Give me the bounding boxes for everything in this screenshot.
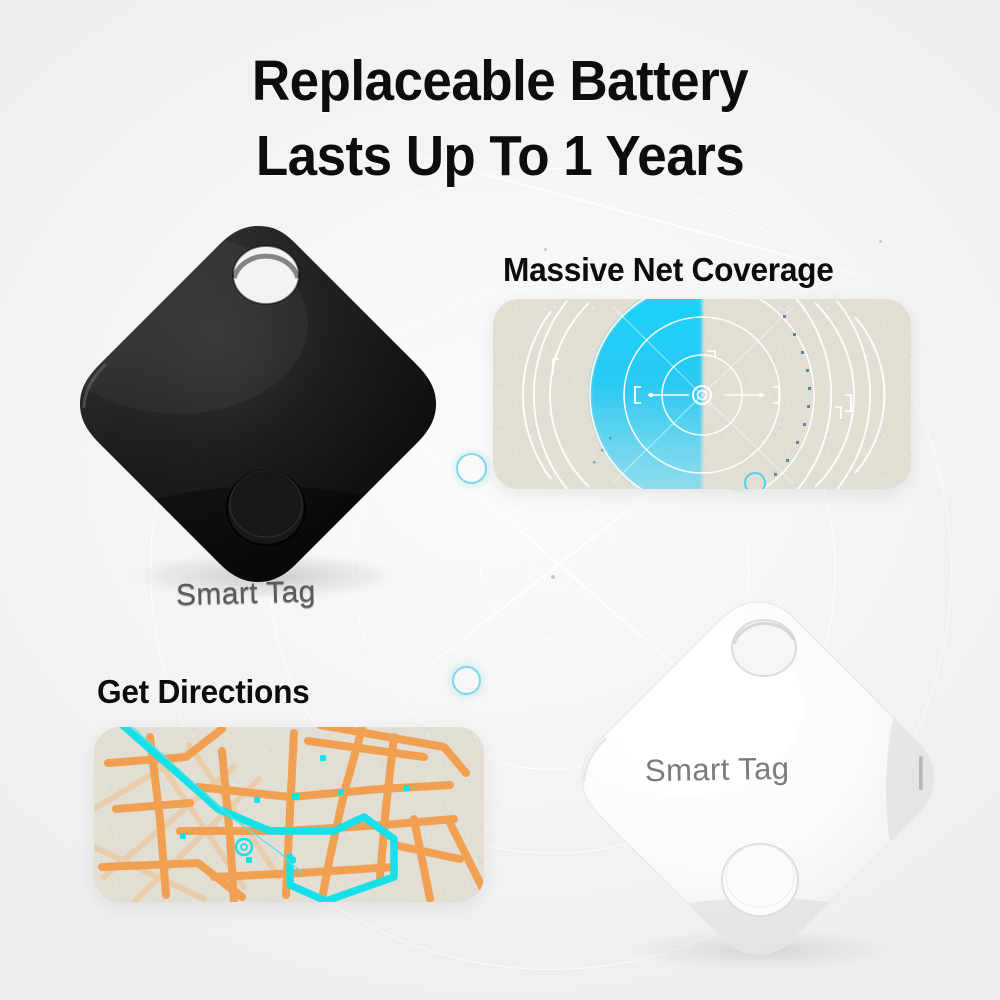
radar-sweep-fan (590, 299, 702, 489)
caption-get-directions: Get Directions (97, 673, 310, 711)
product-white-smart-tag: Smart Tag (548, 578, 968, 978)
map-location-marker (236, 839, 252, 855)
headline-line-2: Lasts Up To 1 Years (35, 119, 965, 194)
radar-outer-arcs-left (523, 301, 589, 489)
bg-cyan-ring-bottom (452, 666, 481, 695)
black-tag-label: Smart Tag (176, 575, 317, 613)
radar-outer-arcs-right (793, 299, 884, 489)
white-tag-keyring-hole (732, 620, 796, 676)
bg-dot-c (879, 240, 882, 243)
black-tag-graphic (58, 204, 458, 604)
black-tag-keyring-hole (233, 246, 299, 304)
radar-accent-ring (745, 473, 765, 489)
headline: Replaceable Battery Lasts Up To 1 Years (35, 44, 965, 193)
headline-line-1: Replaceable Battery (252, 49, 748, 113)
map-graphic (94, 727, 484, 902)
white-tag-label: Smart Tag (645, 751, 790, 790)
black-tag-button (227, 471, 305, 545)
white-tag-side-slot (919, 756, 923, 790)
directions-map-panel (94, 727, 484, 902)
radar-graphic (493, 299, 911, 489)
radar-coverage-panel (493, 299, 911, 489)
white-tag-button (722, 844, 798, 916)
product-black-smart-tag: Smart Tag (58, 204, 458, 604)
bg-cyan-ring-top (456, 453, 487, 484)
product-marketing-image: Replaceable Battery Lasts Up To 1 Years … (0, 0, 1000, 1000)
caption-massive-net-coverage: Massive Net Coverage (503, 251, 834, 289)
